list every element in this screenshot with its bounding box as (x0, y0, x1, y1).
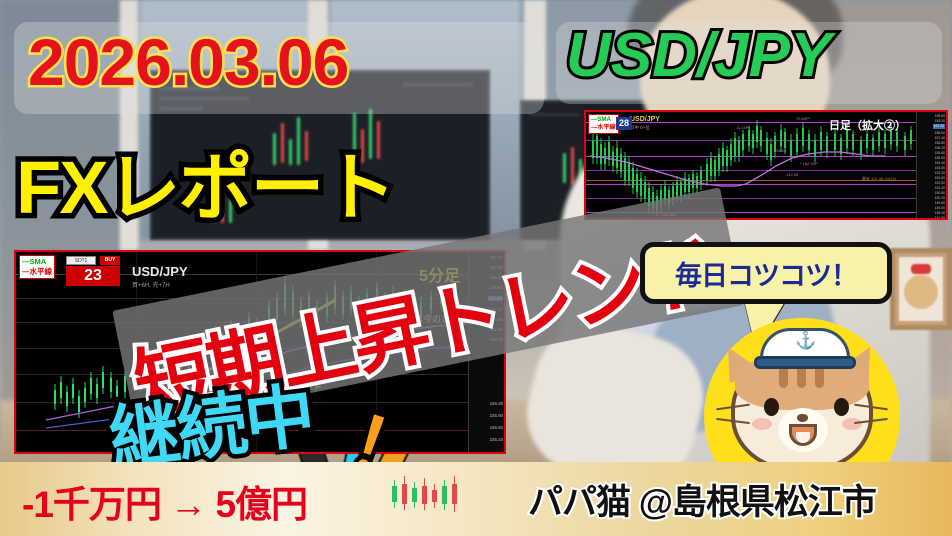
m5-axis-tick: 155.50 (490, 426, 503, 430)
daily-axis-tick: 157.40 (935, 136, 945, 140)
daily-axis-highlight: 157.22 (933, 124, 945, 129)
daily-axis-tick: 159.20 (935, 119, 945, 123)
framed-cat-photo (890, 248, 952, 330)
daily-annotation-4: 144.55 (786, 172, 798, 177)
cat-eye-left-icon (764, 398, 779, 416)
m5-symbol-label: USD/JPY (132, 264, 188, 279)
speech-bubble: 毎日コツコツ！ (640, 242, 892, 304)
cat-nose-icon (797, 414, 808, 422)
daily-axis-tick: 149.60 (935, 201, 945, 205)
anchor-icon: ⚓ (795, 332, 816, 349)
cat-cheek-left (752, 418, 772, 430)
daily-axis-tick: 156.20 (935, 146, 945, 150)
daily-axis-tick: 158.00 (935, 131, 945, 135)
daily-annotation-2: 156.03 (774, 148, 786, 153)
daily-axis-tick: 149.00 (935, 206, 945, 210)
m5-axis-tick: 155.10 (490, 438, 503, 442)
m5-axis-tick: 155.90 (490, 414, 503, 418)
page-title-date: 2026.03.06 (28, 24, 528, 100)
page-title-report: FXレポート (16, 128, 576, 235)
daily-axis-tick: 150.80 (935, 191, 945, 195)
thumbnail-canvas: 2026.03.06 USD/JPY FXレポート (0, 0, 952, 536)
m5-legend-sma: —SMA (22, 257, 52, 267)
m5-buy-button[interactable]: BUY (100, 256, 120, 265)
daily-axis-tick: 148.40 (935, 211, 945, 215)
daily-symbol-label: USD/JPY (630, 116, 660, 123)
daily-annotation-5: 最安 137.98 (2019) (862, 176, 896, 182)
cat-eye-right-icon (834, 398, 849, 416)
daily-timeframe-label: 日足（拡大②） (829, 117, 906, 133)
daily-legend-horizontal: —水平線 (591, 124, 616, 132)
daily-axis-tick: 152.00 (935, 181, 945, 185)
m5-symbol-sub: 買+6H, 売+7H (132, 280, 170, 289)
daily-axis-tick: 150.20 (935, 196, 945, 200)
candlestick-chart-icon (392, 476, 476, 512)
daily-price-badge: 28 (616, 117, 632, 130)
daily-price-axis: 159.80 159.20 157.22 158.00 157.40 156.8… (916, 112, 946, 218)
cat-cheek-right (842, 418, 862, 430)
daily-axis-tick: 152.60 (935, 176, 945, 180)
daily-symbol-sub: 日中 0+位 (630, 125, 650, 131)
sailor-hat-band (754, 356, 856, 369)
daily-axis-tick: 153.20 (935, 171, 945, 175)
daily-annotation-0: 70.50P* (796, 116, 810, 121)
profit-text: -1千万円 → 5億円 (22, 474, 307, 528)
daily-legend: —SMA —水平線 (588, 114, 619, 134)
speech-bubble-text: 毎日コツコツ！ (645, 247, 887, 299)
daily-axis-tick: 153.80 (935, 166, 945, 170)
daily-axis-tick: 154.40 (935, 161, 945, 165)
m5-legend: —SMA —水平線 (19, 255, 55, 279)
m5-axis-tick: 156.30 (490, 402, 503, 406)
daily-legend-sma: —SMA (591, 116, 616, 124)
daily-axis-tick: 156.80 (935, 141, 945, 145)
m5-legend-horizontal: —水平線 (22, 267, 52, 277)
daily-axis-tick: 155.00 (935, 156, 945, 160)
m5-period-select[interactable]: SD?1 (66, 256, 96, 265)
daily-axis-tick: 155.60 (935, 151, 945, 155)
author-handle: パパ猫 @島根県松江市 (528, 474, 876, 525)
daily-axis-tick: 147.80 (935, 216, 945, 220)
daily-annotation-3: * 152.93P (800, 161, 818, 166)
currency-pair-title: USD/JPY (566, 20, 946, 91)
m5-price-badge: 23 (66, 266, 120, 286)
daily-axis-tick: 159.80 (935, 114, 945, 118)
daily-axis-tick: 151.40 (935, 186, 945, 190)
daily-annotation-1: 11.04P1 (736, 125, 751, 130)
